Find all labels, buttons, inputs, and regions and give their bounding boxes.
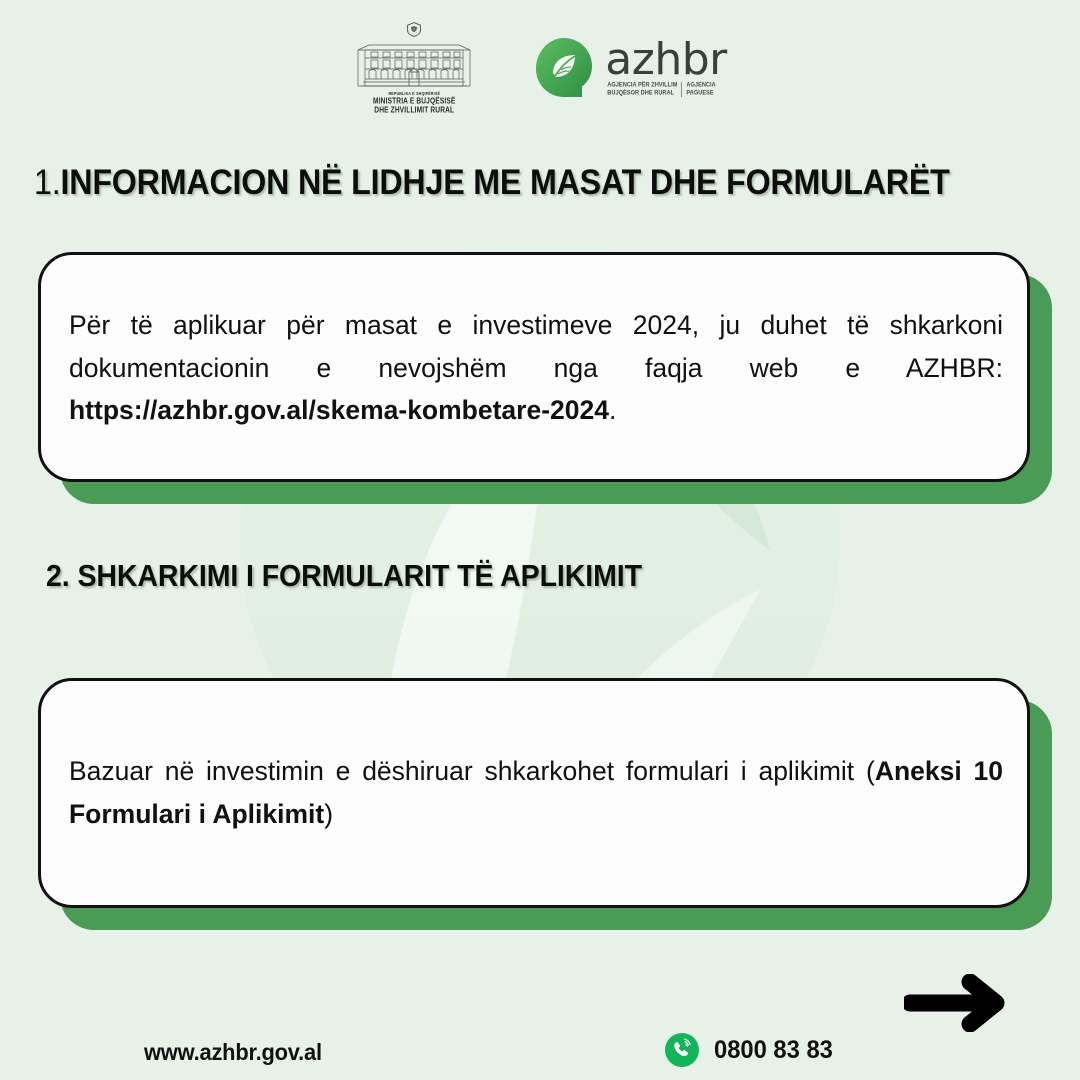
- albania-coat-of-arms-icon: [406, 22, 422, 37]
- phone-call-icon: [664, 1032, 700, 1068]
- footer-website[interactable]: www.azhbr.gov.al: [144, 1039, 322, 1066]
- azhbr-tagline-left-line-2: BUJQËSOR DHE RURAL: [607, 90, 677, 98]
- section-1-text-tail: .: [609, 395, 616, 425]
- section-2-heading-text: SHKARKIMI I FORMULARIT TË APLIKIMIT: [77, 558, 642, 593]
- ministry-caption: REPUBLIKA E SHQIPËRISË MINISTRIA E BUJQË…: [373, 92, 455, 115]
- footer-phone-number[interactable]: 0800 83 83: [714, 1036, 833, 1065]
- azhbr-tagline-right-line-2: PAGUESE: [686, 90, 715, 98]
- azhbr-tagline: AGJENCIA PËR ZHVILLIM BUJQËSOR DHE RURAL…: [607, 82, 726, 97]
- footer-phone: 0800 83 83: [664, 1032, 839, 1068]
- section-1-url: https://azhbr.gov.al/skema-kombetare-202…: [69, 395, 609, 425]
- ministry-name-line-1: MINISTRIA E BUJQËSISË: [373, 97, 455, 106]
- azhbr-leaf-mark-icon: [533, 37, 595, 99]
- section-1-number: 1.: [34, 163, 60, 202]
- azhbr-tagline-left: AGJENCIA PËR ZHVILLIM BUJQËSOR DHE RURAL: [607, 82, 677, 99]
- azhbr-tagline-right-line-1: AGJENCIA: [686, 82, 715, 90]
- card-frame: Për të aplikuar për masat e investimeve …: [38, 252, 1030, 482]
- ministry-logo: REPUBLIKA E SHQIPËRISË MINISTRIA E BUJQË…: [353, 22, 475, 115]
- section-2-text-tail: ): [324, 799, 333, 829]
- azhbr-wordmark: azhbr: [605, 40, 726, 80]
- section-1-card-text: Për të aplikuar për masat e investimeve …: [41, 302, 1027, 433]
- section-1-heading: 1.INFORMACION NË LIDHJE ME MASAT DHE FOR…: [34, 163, 950, 203]
- ministry-building-icon: [355, 38, 473, 90]
- section-2-card: Bazuar në investimin e dëshiruar shkarko…: [38, 678, 1030, 908]
- section-2-card-text: Bazuar në investimin e dëshiruar shkarko…: [41, 750, 1027, 836]
- section-1-text-lead: Për të aplikuar për masat e investimeve …: [69, 310, 1003, 383]
- azhbr-logo: azhbr AGJENCIA PËR ZHVILLIM BUJQËSOR DHE…: [533, 37, 726, 99]
- section-2-number: 2.: [46, 558, 70, 593]
- section-1-card: Për të aplikuar për masat e investimeve …: [38, 252, 1030, 482]
- section-1-heading-text: INFORMACION NË LIDHJE ME MASAT DHE FORMU…: [60, 163, 949, 202]
- section-2-text-lead: Bazuar në investimin e dëshiruar shkarko…: [69, 756, 875, 786]
- next-arrow-icon[interactable]: [904, 974, 1008, 1032]
- azhbr-wordmark-block: azhbr AGJENCIA PËR ZHVILLIM BUJQËSOR DHE…: [605, 40, 726, 97]
- ministry-name-line-2: DHE ZHVILLIMIT RURAL: [373, 106, 455, 115]
- ministry-country-line: REPUBLIKA E SHQIPËRISË: [373, 91, 455, 96]
- azhbr-tagline-divider: [681, 82, 682, 97]
- card-frame: Bazuar në investimin e dëshiruar shkarko…: [38, 678, 1030, 908]
- footer: www.azhbr.gov.al 0800 83 83: [0, 1026, 1080, 1072]
- azhbr-tagline-right: AGJENCIA PAGUESE: [686, 82, 715, 99]
- header-logos: REPUBLIKA E SHQIPËRISË MINISTRIA E BUJQË…: [0, 18, 1080, 118]
- section-2-heading: 2. SHKARKIMI I FORMULARIT TË APLIKIMIT: [46, 558, 642, 594]
